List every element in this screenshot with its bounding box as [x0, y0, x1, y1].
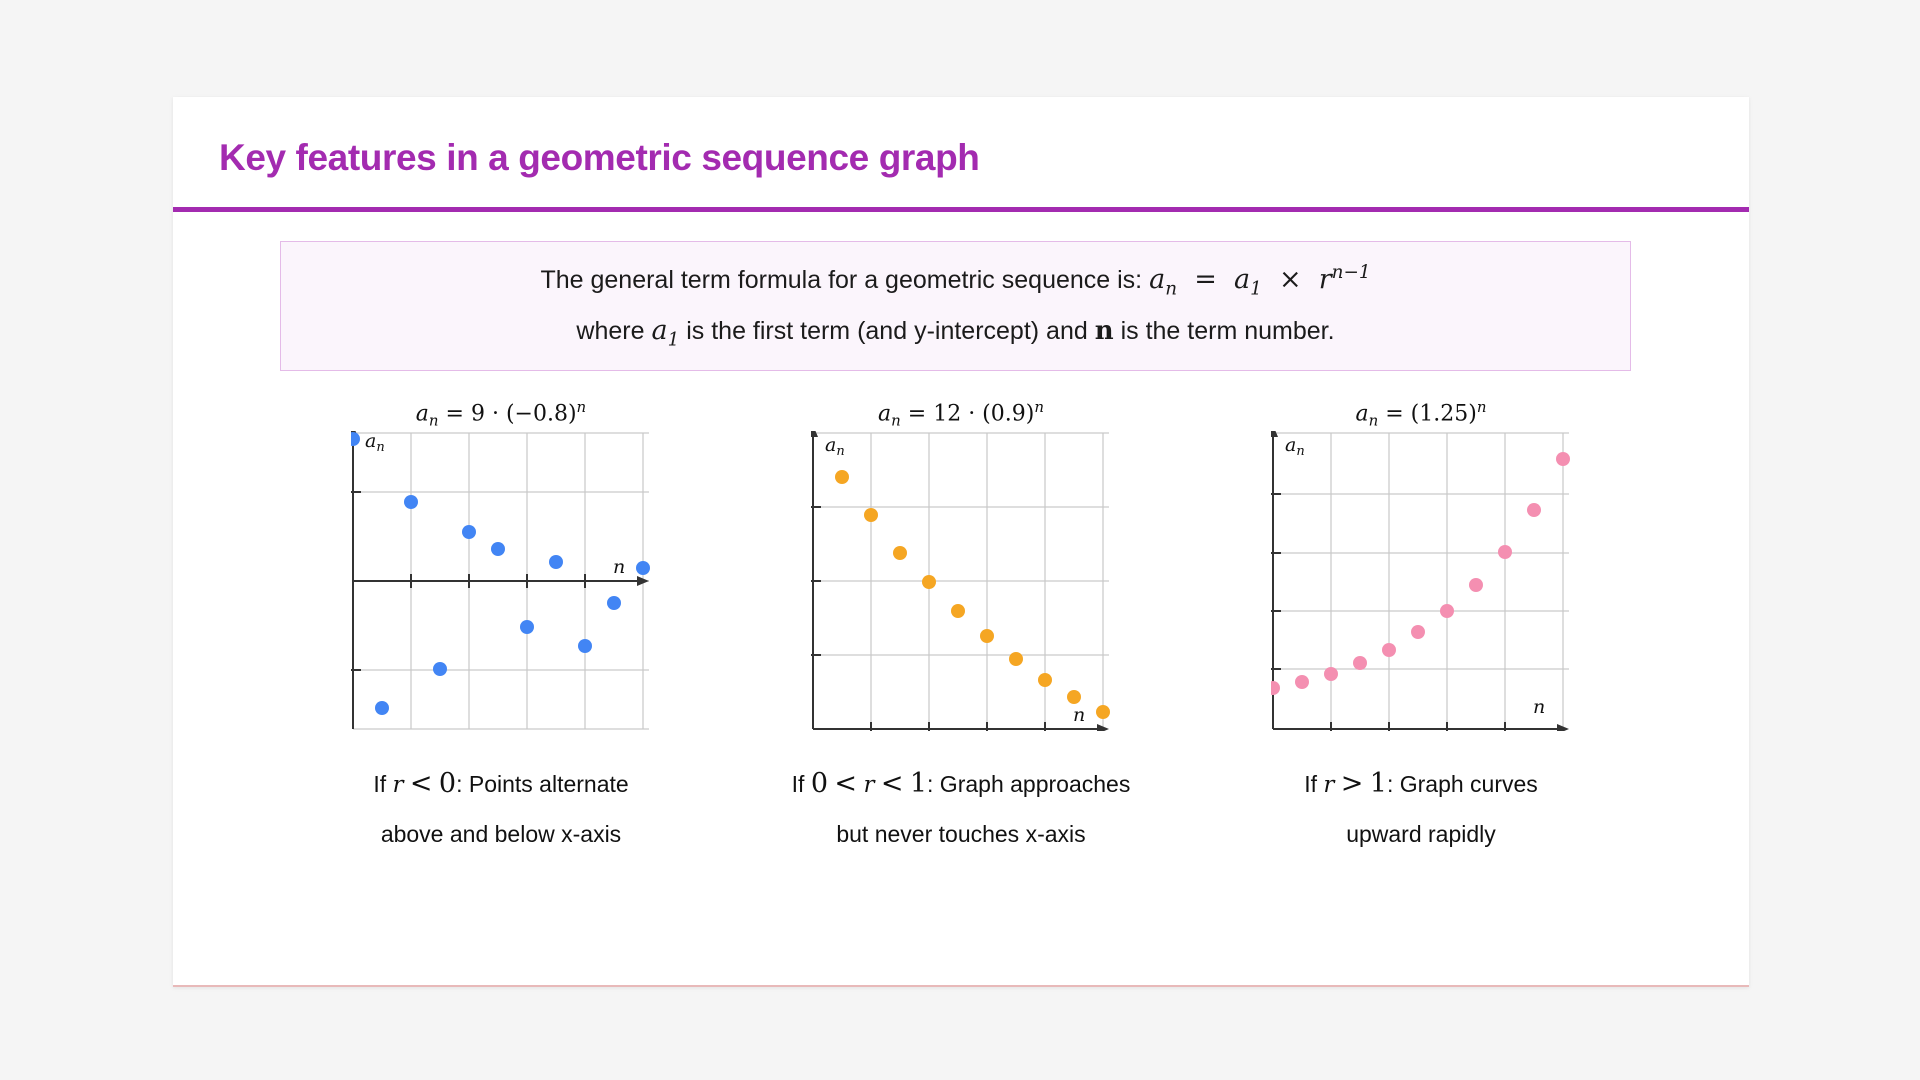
charts-row: an = 9 · (−0.8)n [173, 387, 1749, 857]
chart-caption-1-line1: If r < 0: Points alternate [373, 757, 628, 811]
chart-equation-3: an = (1.25)n [1356, 387, 1487, 427]
chart-caption-1: If r < 0: Points alternate above and bel… [373, 757, 628, 857]
chart-column-decay: an = 12 · (0.9)n [731, 387, 1191, 857]
formula-general-term: an = a1 × rn−1 [1149, 264, 1370, 295]
chart-caption-2-line2: but never touches x-axis [792, 811, 1131, 857]
y-axis-label-2: an [825, 434, 845, 459]
chart-equation-2: an = 12 · (0.9)n [878, 387, 1044, 427]
formula-line-general-term: The general term formula for a geometric… [540, 255, 1370, 306]
chart-caption-3-line1: If r > 1: Graph curves [1304, 757, 1538, 811]
chart-caption-2-line1: If 0 < r < 1: Graph approaches [792, 757, 1131, 811]
chart-column-alternating: an = 9 · (−0.8)n [271, 387, 731, 857]
page-title: Key features in a geometric sequence gra… [219, 137, 979, 179]
data-points-1 [351, 432, 650, 715]
y-axis-arrow-2 [811, 431, 818, 437]
formula-line-definitions: where a1 is the first term (and y-interc… [576, 306, 1334, 357]
chart-column-growth: an = (1.25)n [1191, 387, 1651, 857]
x-axis-label-2: n [1073, 704, 1085, 726]
y-axis-label-3: an [1285, 434, 1305, 459]
formula-intro-text: The general term formula for a geometric… [540, 266, 1142, 294]
axis-lines-3 [1271, 433, 1559, 731]
chart-caption-1-line2: above and below x-axis [373, 811, 628, 857]
formula-where-text: where [576, 317, 644, 345]
axis-lines-1 [351, 433, 639, 729]
scatter-plot-growth: an n [1271, 431, 1571, 731]
x-axis-label-3: n [1533, 696, 1545, 718]
scatter-plot-alternating: an n [351, 431, 651, 731]
axis-lines-2 [811, 433, 1099, 731]
data-points-3 [1271, 452, 1570, 695]
symbol-n: n [1095, 316, 1114, 346]
y-axis-label-1: an [365, 431, 385, 455]
grid-lines-3 [1273, 433, 1569, 729]
grid-lines-2 [813, 433, 1109, 729]
formula-definition-text: is the first term (and y-intercept) and [686, 317, 1088, 345]
formula-callout-box: The general term formula for a geometric… [280, 241, 1631, 371]
chart-caption-3: If r > 1: Graph curves upward rapidly [1304, 757, 1538, 857]
title-divider [173, 207, 1749, 212]
x-axis-label-1: n [613, 556, 625, 578]
formula-term-number-text: is the term number. [1121, 317, 1335, 345]
slide: Key features in a geometric sequence gra… [173, 97, 1749, 987]
scatter-plot-decay: an n [811, 431, 1111, 731]
y-axis-arrow-3 [1271, 431, 1278, 437]
chart-caption-2: If 0 < r < 1: Graph approaches but never… [792, 757, 1131, 857]
chart-caption-3-line2: upward rapidly [1304, 811, 1538, 857]
symbol-a1: a1 [651, 315, 679, 346]
chart-equation-1: an = 9 · (−0.8)n [416, 387, 586, 427]
